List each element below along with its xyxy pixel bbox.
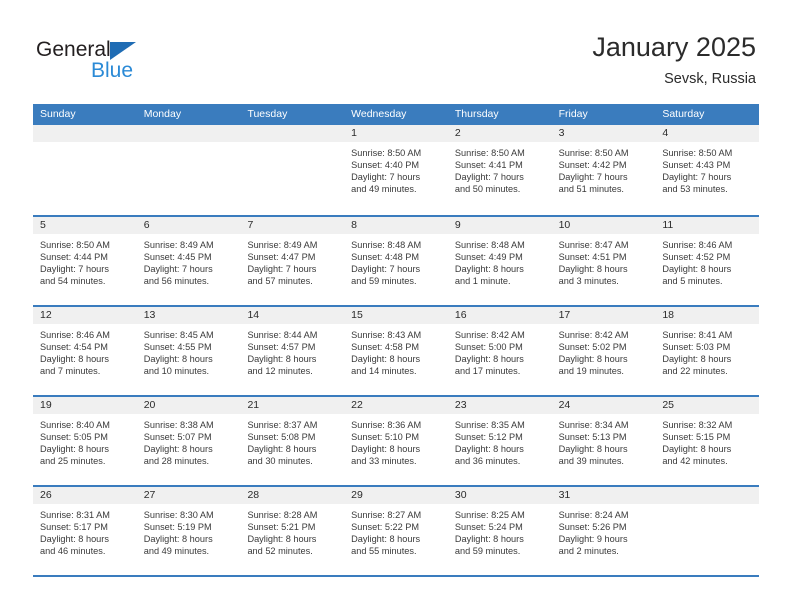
day-number: 2: [448, 125, 552, 142]
daylight-text-line2: and 12 minutes.: [247, 365, 338, 377]
daylight-text-line2: and 56 minutes.: [144, 275, 235, 287]
sunset-text: Sunset: 4:44 PM: [40, 251, 131, 263]
day-sun-info: Sunrise: 8:47 AMSunset: 4:51 PMDaylight:…: [552, 234, 656, 287]
day-number: 26: [33, 487, 137, 504]
sunset-text: Sunset: 5:05 PM: [40, 431, 131, 443]
day-sun-info: Sunrise: 8:34 AMSunset: 5:13 PMDaylight:…: [552, 414, 656, 467]
day-cell[interactable]: 3Sunrise: 8:50 AMSunset: 4:42 PMDaylight…: [552, 125, 656, 215]
daylight-text-line1: Daylight: 8 hours: [144, 353, 235, 365]
sunrise-text: Sunrise: 8:45 AM: [144, 329, 235, 341]
sunrise-text: Sunrise: 8:25 AM: [455, 509, 546, 521]
sunrise-text: Sunrise: 8:49 AM: [247, 239, 338, 251]
sunrise-text: Sunrise: 8:48 AM: [455, 239, 546, 251]
day-sun-info: Sunrise: 8:49 AMSunset: 4:47 PMDaylight:…: [240, 234, 344, 287]
day-sun-info: Sunrise: 8:49 AMSunset: 4:45 PMDaylight:…: [137, 234, 241, 287]
day-sun-info: Sunrise: 8:48 AMSunset: 4:49 PMDaylight:…: [448, 234, 552, 287]
sunset-text: Sunset: 4:51 PM: [559, 251, 650, 263]
calendar-weeks: 1Sunrise: 8:50 AMSunset: 4:40 PMDaylight…: [33, 125, 759, 575]
day-number: 27: [137, 487, 241, 504]
daylight-text-line2: and 14 minutes.: [351, 365, 442, 377]
daylight-text-line1: Daylight: 7 hours: [351, 263, 442, 275]
sunrise-text: Sunrise: 8:50 AM: [559, 147, 650, 159]
daylight-text-line1: Daylight: 8 hours: [247, 533, 338, 545]
sunset-text: Sunset: 4:54 PM: [40, 341, 131, 353]
daylight-text-line1: Daylight: 8 hours: [40, 533, 131, 545]
weekday-header-row: SundayMondayTuesdayWednesdayThursdayFrid…: [33, 104, 759, 125]
daylight-text-line1: Daylight: 7 hours: [559, 171, 650, 183]
day-number: 18: [655, 307, 759, 324]
sunset-text: Sunset: 4:45 PM: [144, 251, 235, 263]
day-cell[interactable]: 16Sunrise: 8:42 AMSunset: 5:00 PMDayligh…: [448, 307, 552, 395]
day-sun-info: Sunrise: 8:50 AMSunset: 4:41 PMDaylight:…: [448, 142, 552, 195]
sunset-text: Sunset: 5:13 PM: [559, 431, 650, 443]
day-cell[interactable]: 4Sunrise: 8:50 AMSunset: 4:43 PMDaylight…: [655, 125, 759, 215]
daylight-text-line2: and 17 minutes.: [455, 365, 546, 377]
sunset-text: Sunset: 5:26 PM: [559, 521, 650, 533]
general-blue-logo[interactable]: General Blue: [36, 38, 216, 84]
page-title: January 2025: [592, 30, 756, 64]
grid-bottom-rule: [33, 575, 759, 577]
daylight-text-line2: and 50 minutes.: [455, 183, 546, 195]
day-cell[interactable]: 1Sunrise: 8:50 AMSunset: 4:40 PMDaylight…: [344, 125, 448, 215]
daylight-text-line1: Daylight: 8 hours: [662, 263, 753, 275]
daylight-text-line2: and 54 minutes.: [40, 275, 131, 287]
daylight-text-line2: and 25 minutes.: [40, 455, 131, 467]
day-number: 3: [552, 125, 656, 142]
day-number: 6: [137, 217, 241, 234]
daylight-text-line2: and 2 minutes.: [559, 545, 650, 557]
sunrise-text: Sunrise: 8:31 AM: [40, 509, 131, 521]
sunrise-text: Sunrise: 8:49 AM: [144, 239, 235, 251]
day-number: 5: [33, 217, 137, 234]
day-number: 10: [552, 217, 656, 234]
sunrise-text: Sunrise: 8:44 AM: [247, 329, 338, 341]
daylight-text-line1: Daylight: 8 hours: [455, 353, 546, 365]
daylight-text-line1: Daylight: 8 hours: [559, 353, 650, 365]
day-number: 4: [655, 125, 759, 142]
day-number: 14: [240, 307, 344, 324]
daylight-text-line2: and 1 minute.: [455, 275, 546, 287]
day-cell[interactable]: 12Sunrise: 8:46 AMSunset: 4:54 PMDayligh…: [33, 307, 137, 395]
day-cell[interactable]: 5Sunrise: 8:50 AMSunset: 4:44 PMDaylight…: [33, 217, 137, 305]
day-number: 20: [137, 397, 241, 414]
day-cell[interactable]: 20Sunrise: 8:38 AMSunset: 5:07 PMDayligh…: [137, 397, 241, 485]
sunrise-text: Sunrise: 8:50 AM: [40, 239, 131, 251]
day-sun-info: Sunrise: 8:50 AMSunset: 4:42 PMDaylight:…: [552, 142, 656, 195]
day-cell[interactable]: 7Sunrise: 8:49 AMSunset: 4:47 PMDaylight…: [240, 217, 344, 305]
sunset-text: Sunset: 5:22 PM: [351, 521, 442, 533]
sunset-text: Sunset: 5:02 PM: [559, 341, 650, 353]
day-cell[interactable]: 8Sunrise: 8:48 AMSunset: 4:48 PMDaylight…: [344, 217, 448, 305]
sunrise-text: Sunrise: 8:47 AM: [559, 239, 650, 251]
sunset-text: Sunset: 5:12 PM: [455, 431, 546, 443]
day-cell[interactable]: 18Sunrise: 8:41 AMSunset: 5:03 PMDayligh…: [655, 307, 759, 395]
sunrise-text: Sunrise: 8:27 AM: [351, 509, 442, 521]
sunset-text: Sunset: 4:52 PM: [662, 251, 753, 263]
sunset-text: Sunset: 4:57 PM: [247, 341, 338, 353]
daylight-text-line1: Daylight: 8 hours: [559, 443, 650, 455]
sunrise-text: Sunrise: 8:24 AM: [559, 509, 650, 521]
daylight-text-line1: Daylight: 8 hours: [40, 353, 131, 365]
day-number: 29: [344, 487, 448, 504]
daylight-text-line1: Daylight: 8 hours: [40, 443, 131, 455]
daylight-text-line2: and 53 minutes.: [662, 183, 753, 195]
calendar-week-row: 12Sunrise: 8:46 AMSunset: 4:54 PMDayligh…: [33, 305, 759, 395]
daylight-text-line1: Daylight: 8 hours: [662, 443, 753, 455]
day-cell[interactable]: 13Sunrise: 8:45 AMSunset: 4:55 PMDayligh…: [137, 307, 241, 395]
sunset-text: Sunset: 5:15 PM: [662, 431, 753, 443]
daylight-text-line1: Daylight: 8 hours: [351, 353, 442, 365]
daylight-text-line1: Daylight: 8 hours: [455, 443, 546, 455]
daylight-text-line1: Daylight: 8 hours: [247, 443, 338, 455]
day-number: 8: [344, 217, 448, 234]
sunrise-text: Sunrise: 8:28 AM: [247, 509, 338, 521]
daylight-text-line2: and 36 minutes.: [455, 455, 546, 467]
day-number: 15: [344, 307, 448, 324]
daylight-text-line2: and 49 minutes.: [144, 545, 235, 557]
daylight-text-line1: Daylight: 8 hours: [247, 353, 338, 365]
daylight-text-line2: and 52 minutes.: [247, 545, 338, 557]
daylight-text-line2: and 39 minutes.: [559, 455, 650, 467]
page-header: General Blue January 2025 Sevsk, Russia: [0, 0, 792, 104]
day-cell[interactable]: 24Sunrise: 8:34 AMSunset: 5:13 PMDayligh…: [552, 397, 656, 485]
daylight-text-line2: and 46 minutes.: [40, 545, 131, 557]
daylight-text-line1: Daylight: 8 hours: [351, 533, 442, 545]
daylight-text-line2: and 22 minutes.: [662, 365, 753, 377]
day-sun-info: Sunrise: 8:42 AMSunset: 5:00 PMDaylight:…: [448, 324, 552, 377]
logo-text-blue: Blue: [91, 59, 133, 83]
sunset-text: Sunset: 5:19 PM: [144, 521, 235, 533]
daylight-text-line1: Daylight: 7 hours: [351, 171, 442, 183]
daylight-text-line2: and 59 minutes.: [351, 275, 442, 287]
daylight-text-line2: and 33 minutes.: [351, 455, 442, 467]
day-sun-info: Sunrise: 8:48 AMSunset: 4:48 PMDaylight:…: [344, 234, 448, 287]
sunset-text: Sunset: 4:55 PM: [144, 341, 235, 353]
daylight-text-line1: Daylight: 8 hours: [144, 533, 235, 545]
day-sun-info: Sunrise: 8:50 AMSunset: 4:43 PMDaylight:…: [655, 142, 759, 195]
day-cell-empty: [655, 487, 759, 575]
sunrise-text: Sunrise: 8:50 AM: [351, 147, 442, 159]
day-sun-info: Sunrise: 8:28 AMSunset: 5:21 PMDaylight:…: [240, 504, 344, 557]
day-sun-info: Sunrise: 8:44 AMSunset: 4:57 PMDaylight:…: [240, 324, 344, 377]
day-number: 30: [448, 487, 552, 504]
day-number: [137, 125, 241, 142]
day-number: [240, 125, 344, 142]
day-cell[interactable]: 22Sunrise: 8:36 AMSunset: 5:10 PMDayligh…: [344, 397, 448, 485]
sunset-text: Sunset: 4:40 PM: [351, 159, 442, 171]
day-sun-info: Sunrise: 8:46 AMSunset: 4:52 PMDaylight:…: [655, 234, 759, 287]
daylight-text-line1: Daylight: 7 hours: [662, 171, 753, 183]
daylight-text-line1: Daylight: 8 hours: [351, 443, 442, 455]
day-sun-info: Sunrise: 8:25 AMSunset: 5:24 PMDaylight:…: [448, 504, 552, 557]
daylight-text-line2: and 30 minutes.: [247, 455, 338, 467]
sunrise-text: Sunrise: 8:50 AM: [455, 147, 546, 159]
daylight-text-line1: Daylight: 7 hours: [455, 171, 546, 183]
day-number: [655, 487, 759, 504]
sunset-text: Sunset: 5:17 PM: [40, 521, 131, 533]
daylight-text-line2: and 59 minutes.: [455, 545, 546, 557]
day-number: 1: [344, 125, 448, 142]
daylight-text-line1: Daylight: 8 hours: [662, 353, 753, 365]
sunrise-text: Sunrise: 8:36 AM: [351, 419, 442, 431]
sunset-text: Sunset: 4:48 PM: [351, 251, 442, 263]
day-cell[interactable]: 6Sunrise: 8:49 AMSunset: 4:45 PMDaylight…: [137, 217, 241, 305]
daylight-text-line2: and 3 minutes.: [559, 275, 650, 287]
daylight-text-line2: and 28 minutes.: [144, 455, 235, 467]
sunrise-text: Sunrise: 8:32 AM: [662, 419, 753, 431]
day-sun-info: Sunrise: 8:30 AMSunset: 5:19 PMDaylight:…: [137, 504, 241, 557]
day-number: 11: [655, 217, 759, 234]
day-sun-info: Sunrise: 8:35 AMSunset: 5:12 PMDaylight:…: [448, 414, 552, 467]
daylight-text-line2: and 42 minutes.: [662, 455, 753, 467]
daylight-text-line1: Daylight: 9 hours: [559, 533, 650, 545]
daylight-text-line2: and 5 minutes.: [662, 275, 753, 287]
day-number: [33, 125, 137, 142]
title-block: January 2025 Sevsk, Russia: [592, 30, 756, 90]
day-cell-empty: [137, 125, 241, 215]
sunset-text: Sunset: 5:21 PM: [247, 521, 338, 533]
sunrise-text: Sunrise: 8:41 AM: [662, 329, 753, 341]
day-sun-info: Sunrise: 8:24 AMSunset: 5:26 PMDaylight:…: [552, 504, 656, 557]
day-cell[interactable]: 27Sunrise: 8:30 AMSunset: 5:19 PMDayligh…: [137, 487, 241, 575]
day-number: 23: [448, 397, 552, 414]
calendar-week-row: 19Sunrise: 8:40 AMSunset: 5:05 PMDayligh…: [33, 395, 759, 485]
sunset-text: Sunset: 5:03 PM: [662, 341, 753, 353]
day-sun-info: Sunrise: 8:36 AMSunset: 5:10 PMDaylight:…: [344, 414, 448, 467]
day-number: 7: [240, 217, 344, 234]
day-cell[interactable]: 10Sunrise: 8:47 AMSunset: 4:51 PMDayligh…: [552, 217, 656, 305]
day-number: 24: [552, 397, 656, 414]
sunset-text: Sunset: 4:43 PM: [662, 159, 753, 171]
sunset-text: Sunset: 4:47 PM: [247, 251, 338, 263]
calendar-grid: SundayMondayTuesdayWednesdayThursdayFrid…: [33, 104, 759, 577]
day-cell[interactable]: 28Sunrise: 8:28 AMSunset: 5:21 PMDayligh…: [240, 487, 344, 575]
weekday-header-thursday: Thursday: [448, 104, 552, 125]
sunset-text: Sunset: 4:41 PM: [455, 159, 546, 171]
sunrise-text: Sunrise: 8:42 AM: [455, 329, 546, 341]
day-cell[interactable]: 30Sunrise: 8:25 AMSunset: 5:24 PMDayligh…: [448, 487, 552, 575]
daylight-text-line2: and 57 minutes.: [247, 275, 338, 287]
daylight-text-line1: Daylight: 7 hours: [247, 263, 338, 275]
day-number: 12: [33, 307, 137, 324]
day-cell[interactable]: 17Sunrise: 8:42 AMSunset: 5:02 PMDayligh…: [552, 307, 656, 395]
sunrise-text: Sunrise: 8:34 AM: [559, 419, 650, 431]
sunset-text: Sunset: 5:07 PM: [144, 431, 235, 443]
calendar-week-row: 5Sunrise: 8:50 AMSunset: 4:44 PMDaylight…: [33, 215, 759, 305]
sunrise-text: Sunrise: 8:46 AM: [662, 239, 753, 251]
day-sun-info: Sunrise: 8:27 AMSunset: 5:22 PMDaylight:…: [344, 504, 448, 557]
sunrise-text: Sunrise: 8:30 AM: [144, 509, 235, 521]
day-sun-info: Sunrise: 8:43 AMSunset: 4:58 PMDaylight:…: [344, 324, 448, 377]
day-cell[interactable]: 14Sunrise: 8:44 AMSunset: 4:57 PMDayligh…: [240, 307, 344, 395]
sunrise-text: Sunrise: 8:38 AM: [144, 419, 235, 431]
sunset-text: Sunset: 5:00 PM: [455, 341, 546, 353]
logo-triangle-icon: [110, 42, 136, 60]
day-cell[interactable]: 23Sunrise: 8:35 AMSunset: 5:12 PMDayligh…: [448, 397, 552, 485]
day-cell-empty: [33, 125, 137, 215]
day-cell[interactable]: 2Sunrise: 8:50 AMSunset: 4:41 PMDaylight…: [448, 125, 552, 215]
daylight-text-line2: and 51 minutes.: [559, 183, 650, 195]
daylight-text-line2: and 55 minutes.: [351, 545, 442, 557]
day-cell[interactable]: 26Sunrise: 8:31 AMSunset: 5:17 PMDayligh…: [33, 487, 137, 575]
day-sun-info: Sunrise: 8:41 AMSunset: 5:03 PMDaylight:…: [655, 324, 759, 377]
sunset-text: Sunset: 4:58 PM: [351, 341, 442, 353]
day-cell[interactable]: 11Sunrise: 8:46 AMSunset: 4:52 PMDayligh…: [655, 217, 759, 305]
weekday-header-sunday: Sunday: [33, 104, 137, 125]
day-sun-info: Sunrise: 8:37 AMSunset: 5:08 PMDaylight:…: [240, 414, 344, 467]
sunset-text: Sunset: 5:08 PM: [247, 431, 338, 443]
daylight-text-line2: and 7 minutes.: [40, 365, 131, 377]
day-cell[interactable]: 25Sunrise: 8:32 AMSunset: 5:15 PMDayligh…: [655, 397, 759, 485]
sunset-text: Sunset: 4:49 PM: [455, 251, 546, 263]
sunset-text: Sunset: 5:10 PM: [351, 431, 442, 443]
day-number: 31: [552, 487, 656, 504]
weekday-header-tuesday: Tuesday: [240, 104, 344, 125]
day-number: 19: [33, 397, 137, 414]
daylight-text-line2: and 49 minutes.: [351, 183, 442, 195]
sunrise-text: Sunrise: 8:35 AM: [455, 419, 546, 431]
weekday-header-wednesday: Wednesday: [344, 104, 448, 125]
day-cell[interactable]: 9Sunrise: 8:48 AMSunset: 4:49 PMDaylight…: [448, 217, 552, 305]
day-cell[interactable]: 31Sunrise: 8:24 AMSunset: 5:26 PMDayligh…: [552, 487, 656, 575]
daylight-text-line1: Daylight: 8 hours: [559, 263, 650, 275]
day-sun-info: Sunrise: 8:31 AMSunset: 5:17 PMDaylight:…: [33, 504, 137, 557]
daylight-text-line1: Daylight: 7 hours: [40, 263, 131, 275]
day-sun-info: Sunrise: 8:38 AMSunset: 5:07 PMDaylight:…: [137, 414, 241, 467]
day-sun-info: Sunrise: 8:50 AMSunset: 4:44 PMDaylight:…: [33, 234, 137, 287]
daylight-text-line2: and 10 minutes.: [144, 365, 235, 377]
sunrise-text: Sunrise: 8:50 AM: [662, 147, 753, 159]
day-sun-info: Sunrise: 8:42 AMSunset: 5:02 PMDaylight:…: [552, 324, 656, 377]
daylight-text-line1: Daylight: 8 hours: [455, 533, 546, 545]
day-sun-info: Sunrise: 8:50 AMSunset: 4:40 PMDaylight:…: [344, 142, 448, 195]
daylight-text-line1: Daylight: 8 hours: [455, 263, 546, 275]
day-number: 28: [240, 487, 344, 504]
day-number: 21: [240, 397, 344, 414]
day-sun-info: Sunrise: 8:40 AMSunset: 5:05 PMDaylight:…: [33, 414, 137, 467]
day-cell[interactable]: 29Sunrise: 8:27 AMSunset: 5:22 PMDayligh…: [344, 487, 448, 575]
day-cell[interactable]: 21Sunrise: 8:37 AMSunset: 5:08 PMDayligh…: [240, 397, 344, 485]
day-sun-info: Sunrise: 8:45 AMSunset: 4:55 PMDaylight:…: [137, 324, 241, 377]
calendar-page: General Blue January 2025 Sevsk, Russia …: [0, 0, 792, 612]
sunrise-text: Sunrise: 8:42 AM: [559, 329, 650, 341]
page-subtitle-location: Sevsk, Russia: [592, 68, 756, 90]
day-cell[interactable]: 15Sunrise: 8:43 AMSunset: 4:58 PMDayligh…: [344, 307, 448, 395]
day-cell-empty: [240, 125, 344, 215]
sunrise-text: Sunrise: 8:37 AM: [247, 419, 338, 431]
sunset-text: Sunset: 5:24 PM: [455, 521, 546, 533]
day-number: 17: [552, 307, 656, 324]
day-number: 25: [655, 397, 759, 414]
sunset-text: Sunset: 4:42 PM: [559, 159, 650, 171]
sunrise-text: Sunrise: 8:43 AM: [351, 329, 442, 341]
calendar-week-row: 26Sunrise: 8:31 AMSunset: 5:17 PMDayligh…: [33, 485, 759, 575]
calendar-week-row: 1Sunrise: 8:50 AMSunset: 4:40 PMDaylight…: [33, 125, 759, 215]
daylight-text-line2: and 19 minutes.: [559, 365, 650, 377]
weekday-header-saturday: Saturday: [655, 104, 759, 125]
daylight-text-line1: Daylight: 7 hours: [144, 263, 235, 275]
day-number: 13: [137, 307, 241, 324]
sunrise-text: Sunrise: 8:46 AM: [40, 329, 131, 341]
sunrise-text: Sunrise: 8:48 AM: [351, 239, 442, 251]
sunrise-text: Sunrise: 8:40 AM: [40, 419, 131, 431]
day-number: 16: [448, 307, 552, 324]
day-number: 9: [448, 217, 552, 234]
day-cell[interactable]: 19Sunrise: 8:40 AMSunset: 5:05 PMDayligh…: [33, 397, 137, 485]
day-number: 22: [344, 397, 448, 414]
weekday-header-friday: Friday: [552, 104, 656, 125]
day-sun-info: Sunrise: 8:46 AMSunset: 4:54 PMDaylight:…: [33, 324, 137, 377]
day-sun-info: Sunrise: 8:32 AMSunset: 5:15 PMDaylight:…: [655, 414, 759, 467]
daylight-text-line1: Daylight: 8 hours: [144, 443, 235, 455]
weekday-header-monday: Monday: [137, 104, 241, 125]
